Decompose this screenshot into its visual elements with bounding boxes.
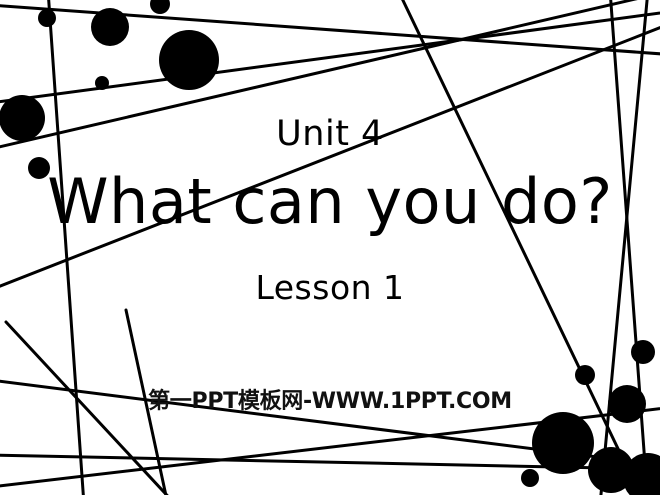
slide-text-layer: Unit 4 What can you do? Lesson 1 第一PPT模板… [0, 0, 660, 495]
presentation-slide: Unit 4 What can you do? Lesson 1 第一PPT模板… [0, 0, 660, 495]
watermark-text: 第一PPT模板网-WWW.1PPT.COM [0, 388, 660, 416]
lesson-label: Lesson 1 [0, 266, 660, 310]
unit-label: Unit 4 [0, 112, 660, 156]
slide-title: What can you do? [0, 164, 660, 240]
